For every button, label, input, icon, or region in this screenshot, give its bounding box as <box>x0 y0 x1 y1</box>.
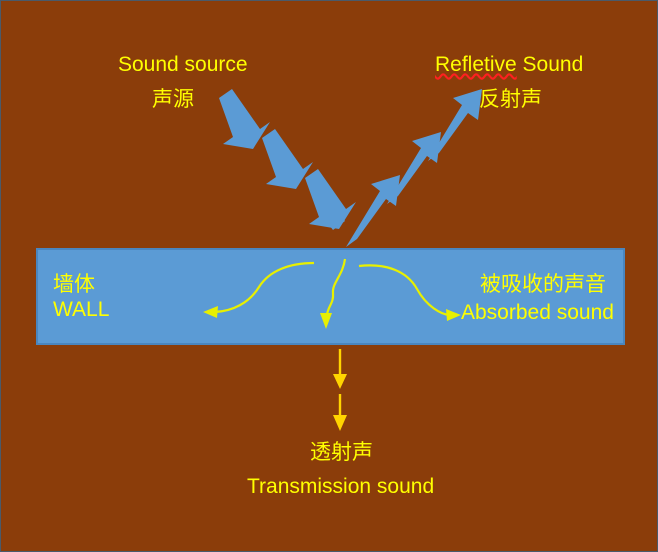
label-reflective-sound-chinese: 反射声 <box>479 88 542 111</box>
incident-sound-arrows <box>219 89 356 230</box>
reflected-arrow-segment-1 <box>346 175 400 247</box>
label-transmission-sound-english: Transmission sound <box>247 475 434 498</box>
transmission-arrow-1-head <box>333 374 347 389</box>
label-absorbed-sound-chinese: 被吸收的声音 <box>480 273 606 296</box>
transmission-arrow-2-head <box>333 415 347 431</box>
incident-arrow-segment-2 <box>262 129 313 189</box>
label-wall-english: WALL <box>53 298 109 321</box>
label-reflective-sound-english: Refletive Sound <box>435 53 583 76</box>
wall-slab <box>37 249 624 344</box>
misspelled-word-refletive: Refletive <box>435 53 517 76</box>
label-transmission-sound-chinese: 透射声 <box>310 441 373 464</box>
reflected-arrow-segment-3 <box>428 89 482 161</box>
label-absorbed-sound-english: Absorbed sound <box>461 301 614 324</box>
label-reflective-sound-suffix: Sound <box>517 53 584 76</box>
reflected-sound-arrows <box>346 89 482 247</box>
transmission-sound-arrows <box>333 349 347 431</box>
diagram-canvas: Sound source 声源 Refletive Sound 反射声 墙体 W… <box>0 0 658 552</box>
reflected-arrow-segment-2 <box>387 132 441 204</box>
incident-arrow-segment-1 <box>219 89 270 149</box>
label-wall-chinese: 墙体 <box>53 273 95 296</box>
label-sound-source-english: Sound source <box>118 53 248 76</box>
label-sound-source-chinese: 声源 <box>152 88 194 111</box>
